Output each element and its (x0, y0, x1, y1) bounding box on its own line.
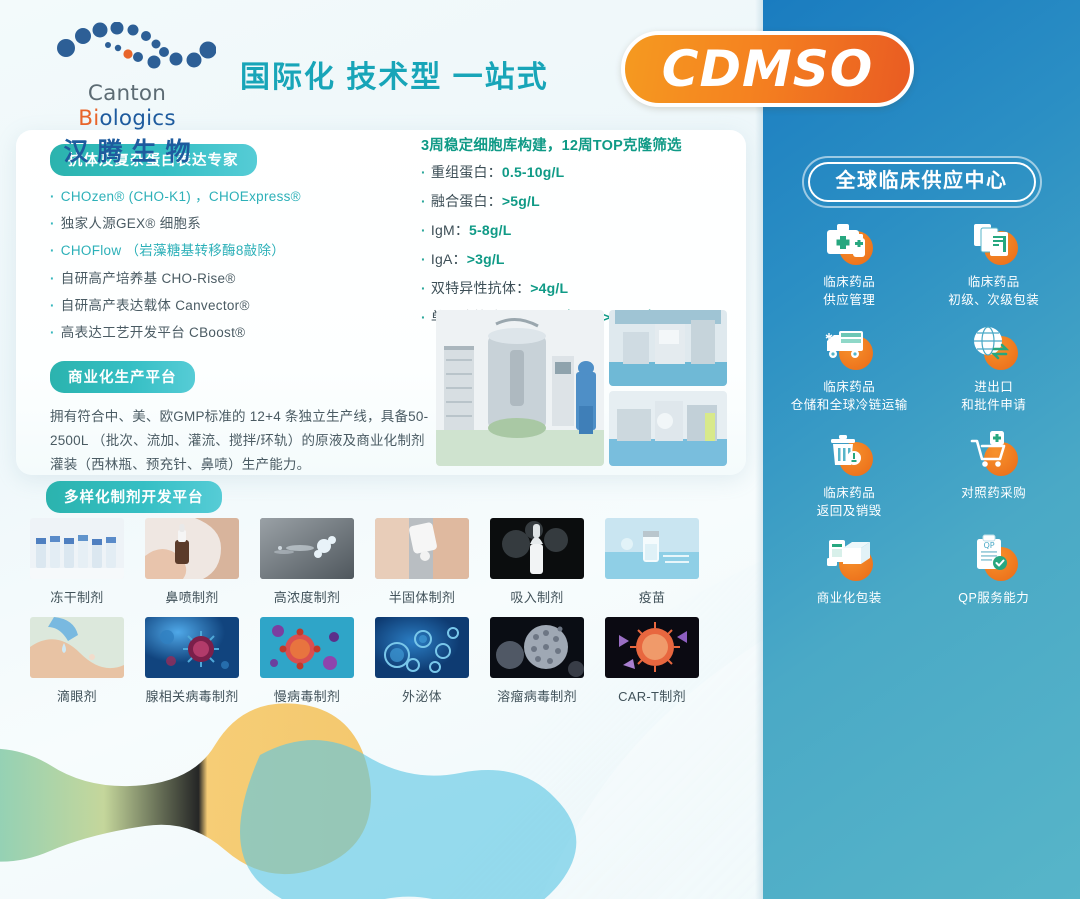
list-item: CHOzen® (CHO-K1) ，CHOExpress® (50, 189, 430, 205)
services-grid: 临床药品 供应管理 (763, 214, 1080, 607)
formulation-item-lyophilized[interactable]: 冻干制剂 (30, 518, 124, 606)
list-item: 独家人源GEX® 细胞系 (50, 216, 430, 232)
trash-bin-icon (821, 425, 877, 477)
service-label: 临床药品 初级、次级包装 (948, 273, 1039, 309)
formulation-item-high-concentration[interactable]: 高浓度制剂 (260, 518, 354, 606)
facility-photo-column (609, 310, 727, 466)
list-item: CHOFlow （岩藻糖基转移酶8敲除） (50, 243, 430, 259)
formulation-item-car-t[interactable]: CAR-T制剂 (605, 617, 699, 705)
expression-column: 抗体及复杂蛋白表达专家 CHOzen® (CHO-K1) ，CHOExpress… (50, 144, 430, 477)
service-label: 商业化包装 (817, 589, 882, 607)
cdmso-badge-label: CDMSO (662, 40, 873, 98)
page-title: 国际化 技术型 一站式 (240, 52, 549, 96)
service-label-line1: 临床药品 (823, 380, 875, 394)
filling-line-photo (609, 391, 727, 467)
service-label-line1: 进出口 (974, 380, 1013, 394)
global-supply-title-outline: 全球临床供应中心 (802, 156, 1042, 208)
global-supply-title-wrap: 全球临床供应中心 (763, 156, 1080, 208)
formulation-row-2: 滴眼剂 腺相关病毒制剂 (30, 617, 750, 705)
service-item-commercial-packaging[interactable]: 商业化包装 (777, 530, 922, 607)
service-label-line1: 对照药采购 (961, 486, 1026, 500)
expression-bullets: CHOzen® (CHO-K1) ，CHOExpress® 独家人源GEX® 细… (50, 189, 430, 341)
formulation-label: 半固体制剂 (375, 587, 469, 606)
list-item: 高表达工艺开发平台 CBoost® (50, 325, 430, 341)
facility-photo-group (436, 310, 728, 466)
service-label-line1: 临床药品 (823, 486, 875, 500)
bioreactor-suite-photo (436, 310, 604, 466)
cleanroom-equipment-photo (609, 310, 727, 386)
service-item-qp-service[interactable]: QP QP服务能力 (922, 530, 1067, 607)
commercial-packaging-icon (821, 530, 877, 582)
formulation-pill: 多样化制剂开发平台 (46, 481, 222, 513)
service-label-line1: 临床药品 (968, 275, 1020, 289)
globe-import-export-icon (966, 319, 1022, 371)
inhalation-device-photo (490, 518, 584, 579)
formulation-label: 鼻喷制剂 (145, 587, 239, 606)
service-label-line2: 供应管理 (823, 293, 875, 307)
formulation-label: 腺相关病毒制剂 (133, 686, 251, 705)
service-label-line2: 返回及销毁 (817, 504, 882, 518)
formulation-item-inhalation[interactable]: 吸入制剂 (490, 518, 584, 606)
list-item: 融合蛋白：>5g/L (421, 191, 731, 211)
formulation-item-oncolytic-virus[interactable]: 溶瘤病毒制剂 (490, 617, 584, 705)
list-item: 双特异性抗体：>4g/L (421, 278, 731, 298)
titer-title: 3周稳定细胞库构建，12周TOP克隆筛选 (421, 134, 731, 155)
service-label-line1: 临床药品 (823, 275, 875, 289)
packaging-boxes-icon (966, 214, 1022, 266)
poster-root: 全球临床供应中心 (0, 0, 1080, 899)
logo-chinese-name: 汉腾生物 (38, 132, 216, 168)
formulation-grid: 冻干制剂 鼻喷制剂 (30, 518, 750, 716)
service-label: 对照药采购 (961, 484, 1026, 502)
titer-list: 重组蛋白：0.5-10g/L 融合蛋白：>5g/L IgM：5-8g/L IgA… (421, 162, 731, 327)
svg-text:QP: QP (983, 541, 994, 550)
commercial-pill-wrap: 商业化生产平台 (50, 361, 430, 393)
semisolid-cream-photo (375, 518, 469, 579)
cold-chain-truck-icon (821, 319, 877, 371)
service-item-clinical-packaging[interactable]: 临床药品 初级、次级包装 (922, 214, 1067, 309)
formulation-item-lentivirus[interactable]: 慢病毒制剂 (260, 617, 354, 705)
service-label-line2: 仓储和全球冷链运输 (791, 398, 908, 412)
oncolytic-virus-photo (490, 617, 584, 678)
list-item: 自研高产表达载体 Canvector® (50, 298, 430, 314)
formulation-item-aav[interactable]: 腺相关病毒制剂 (145, 617, 239, 705)
formulation-row-1: 冻干制剂 鼻喷制剂 (30, 518, 750, 606)
logo-wordmark: Canton Biologics (38, 81, 216, 131)
formulation-label: 吸入制剂 (490, 587, 584, 606)
logo-word-canton: Canton (88, 81, 166, 106)
list-item: IgM：5-8g/L (421, 220, 731, 240)
service-label: 临床药品 供应管理 (823, 273, 875, 309)
service-label: 进出口 和批件申请 (961, 378, 1026, 414)
formulation-item-nasal-spray[interactable]: 鼻喷制剂 (145, 518, 239, 606)
shopping-cart-medical-icon (966, 425, 1022, 477)
service-item-import-export[interactable]: 进出口 和批件申请 (922, 319, 1067, 414)
formulation-label: 疫苗 (605, 587, 699, 606)
formulation-label: 外泌体 (375, 686, 469, 705)
formulation-label: CAR-T制剂 (605, 686, 699, 705)
formulation-label: 冻干制剂 (30, 587, 124, 606)
service-item-comparator-sourcing[interactable]: 对照药采购 (922, 425, 1067, 520)
car-t-cell-photo (605, 617, 699, 678)
formulation-label: 慢病毒制剂 (260, 686, 354, 705)
service-item-return-destruction[interactable]: 临床药品 返回及销毁 (777, 425, 922, 520)
service-label: QP服务能力 (958, 589, 1029, 607)
lentivirus-photo (260, 617, 354, 678)
qp-certificate-icon: QP (966, 530, 1022, 582)
decorative-blob (0, 700, 660, 899)
global-supply-panel: 全球临床供应中心 (763, 0, 1080, 899)
exosome-photo (375, 617, 469, 678)
commercial-pill: 商业化生产平台 (50, 361, 195, 393)
service-label: 临床药品 仓储和全球冷链运输 (791, 378, 908, 414)
cdmso-badge: CDMSO (621, 31, 914, 107)
dna-helix-dots-logo (38, 22, 216, 74)
service-item-cold-chain[interactable]: 临床药品 仓储和全球冷链运输 (777, 319, 922, 414)
formulation-label: 高浓度制剂 (260, 587, 354, 606)
company-logo: Canton Biologics 汉腾生物 (38, 22, 216, 168)
formulation-label: 滴眼剂 (30, 686, 124, 705)
aav-virus-photo (145, 617, 239, 678)
vaccine-vial-photo (605, 518, 699, 579)
medical-kit-icon (821, 214, 877, 266)
service-item-clinical-supply-management[interactable]: 临床药品 供应管理 (777, 214, 922, 309)
list-item: IgA：>3g/L (421, 249, 731, 269)
service-label: 临床药品 返回及销毁 (817, 484, 882, 520)
logo-word-bi: Bi (78, 106, 99, 131)
eye-drops-photo (30, 617, 124, 678)
formulation-item-vaccine[interactable]: 疫苗 (605, 518, 699, 606)
lyophilized-vials-photo (30, 518, 124, 579)
list-item: 自研高产培养基 CHO-Rise® (50, 271, 430, 287)
formulation-item-eye-drops[interactable]: 滴眼剂 (30, 617, 124, 705)
formulation-pill-wrap: 多样化制剂开发平台 (46, 481, 222, 513)
titer-column: 3周稳定细胞库构建，12周TOP克隆筛选 重组蛋白：0.5-10g/L 融合蛋白… (421, 134, 731, 336)
formulation-item-semisolid[interactable]: 半固体制剂 (375, 518, 469, 606)
high-concentration-photo (260, 518, 354, 579)
list-item: 重组蛋白：0.5-10g/L (421, 162, 731, 182)
formulation-label: 溶瘤病毒制剂 (478, 686, 596, 705)
global-supply-title: 全球临床供应中心 (808, 162, 1036, 202)
service-label-line2: 和批件申请 (961, 398, 1026, 412)
nasal-spray-photo (145, 518, 239, 579)
formulation-item-exosome[interactable]: 外泌体 (375, 617, 469, 705)
service-label-line1: QP服务能力 (958, 591, 1029, 605)
service-label-line2: 初级、次级包装 (948, 293, 1039, 307)
logo-word-ologics: ologics (99, 106, 175, 131)
commercial-description: 拥有符合中、美、欧GMP标准的 12+4 条独立生产线，具备50-2500L （… (50, 405, 430, 477)
service-label-line1: 商业化包装 (817, 591, 882, 605)
